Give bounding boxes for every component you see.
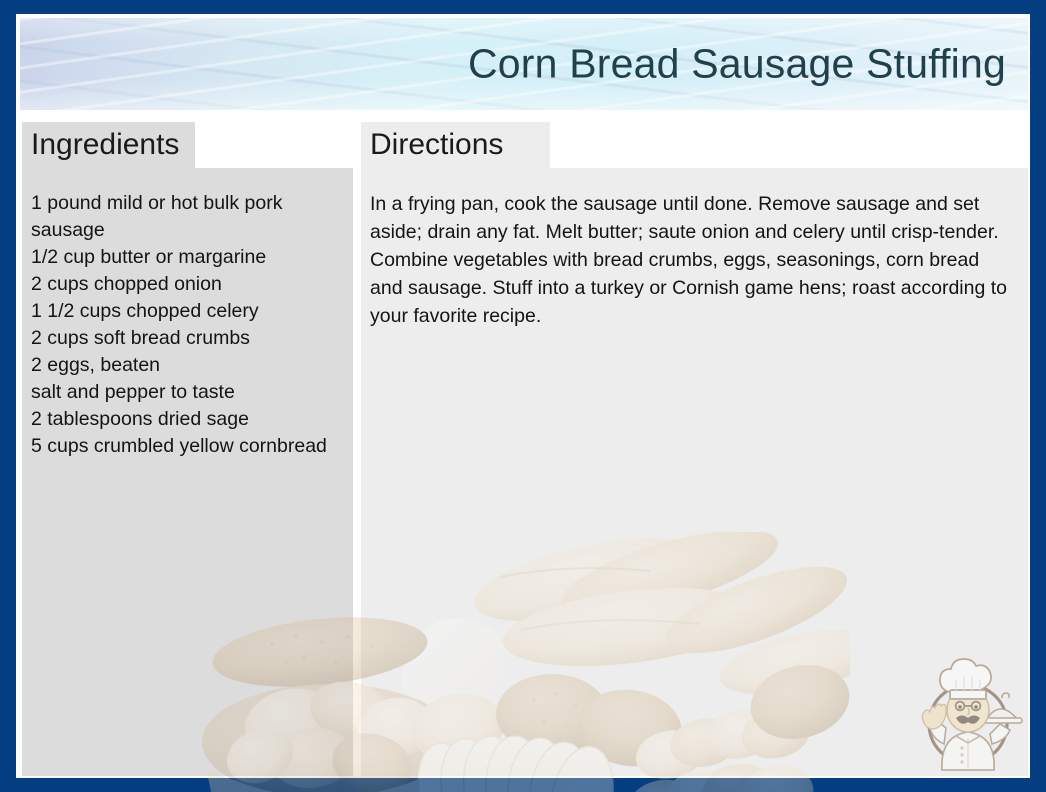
page-title: Corn Bread Sausage Stuffing — [468, 41, 1006, 86]
ingredients-panel: Ingredients 1 pound mild or hot bulk por… — [22, 122, 353, 776]
directions-panel: Directions In a frying pan, cook the sau… — [361, 122, 1028, 776]
list-item: 2 eggs, beaten — [31, 352, 349, 379]
ingredients-list: 1 pound mild or hot bulk pork sausage 1/… — [22, 168, 353, 460]
list-item: salt and pepper to taste — [31, 379, 349, 406]
list-item: 5 cups crumbled yellow cornbread — [31, 433, 349, 460]
list-item: 2 tablespoons dried sage — [31, 406, 349, 433]
list-item: 2 cups soft bread crumbs — [31, 325, 349, 352]
list-item: 1 pound mild or hot bulk pork sausage — [31, 190, 349, 244]
ingredients-heading: Ingredients — [31, 130, 179, 160]
directions-text: In a frying pan, cook the sausage until … — [361, 168, 1028, 330]
directions-heading: Directions — [370, 130, 503, 160]
directions-body: In a frying pan, cook the sausage until … — [361, 168, 1028, 776]
ingredients-body: 1 pound mild or hot bulk pork sausage 1/… — [22, 168, 353, 776]
list-item: 1/2 cup butter or margarine — [31, 244, 349, 271]
ingredients-header-tab: Ingredients — [22, 122, 195, 168]
list-item: 2 cups chopped onion — [31, 271, 349, 298]
recipe-slide: Corn Bread Sausage Stuffing Ingredients … — [0, 0, 1046, 792]
list-item: 1 1/2 cups chopped celery — [31, 298, 349, 325]
directions-header-tab: Directions — [361, 122, 550, 168]
slide-content: Ingredients 1 pound mild or hot bulk por… — [22, 122, 1028, 776]
title-banner: Corn Bread Sausage Stuffing — [20, 18, 1028, 110]
